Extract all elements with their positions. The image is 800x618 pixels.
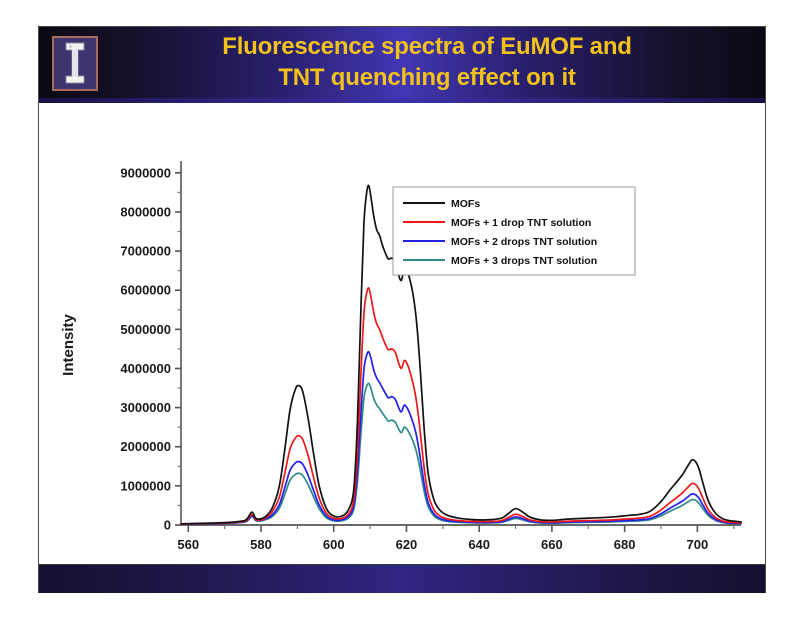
y-axis-title: Intensity: [60, 314, 77, 376]
spectrum-line: [181, 383, 741, 524]
y-axis-tick-label: 8000000: [120, 204, 171, 219]
slide-title-bar: Fluorescence spectra of EuMOF and TNT qu…: [39, 27, 765, 98]
x-axis-tick-label: 640: [468, 537, 490, 552]
legend-label: MOFs + 1 drop TNT solution: [451, 217, 591, 229]
x-axis-tick-label: 660: [541, 537, 563, 552]
spectrum-line: [181, 352, 741, 525]
page-title-line-1: Fluorescence spectra of EuMOF and: [127, 31, 727, 62]
y-axis-tick-label: 0: [164, 518, 171, 533]
y-axis-tick-label: 1000000: [120, 478, 171, 493]
slide-footer-bar: [39, 564, 765, 593]
x-axis-tick-label: 580: [250, 537, 272, 552]
y-axis-tick-label: 7000000: [120, 244, 171, 259]
page-title: Fluorescence spectra of EuMOF and TNT qu…: [127, 31, 727, 93]
y-axis-tick-label: 4000000: [120, 361, 171, 376]
legend-label: MOFs + 2 drops TNT solution: [451, 236, 597, 248]
y-axis-tick-label: 6000000: [120, 283, 171, 298]
page-title-line-2: TNT quenching effect on it: [127, 62, 727, 93]
x-axis-tick-label: 600: [323, 537, 345, 552]
x-axis-tick-label: 700: [687, 537, 709, 552]
y-axis-tick-label: 2000000: [120, 439, 171, 454]
legend-label: MOFs + 3 drops TNT solution: [451, 255, 597, 267]
legend-label: MOFs: [451, 198, 480, 210]
university-of-illinois-block-i-logo: [52, 36, 98, 91]
spectrum-line: [181, 288, 741, 524]
presentation-slide: Fluorescence spectra of EuMOF and TNT qu…: [38, 26, 766, 593]
y-axis-tick-label: 3000000: [120, 400, 171, 415]
fluorescence-spectra-chart: 0100000020000003000000400000050000006000…: [39, 103, 767, 555]
x-axis-tick-label: 560: [177, 537, 199, 552]
x-axis-tick-label: 620: [396, 537, 418, 552]
chart-svg: 0100000020000003000000400000050000006000…: [39, 103, 767, 555]
y-axis-tick-label: 5000000: [120, 322, 171, 337]
y-axis-tick-label: 9000000: [120, 165, 171, 180]
x-axis-tick-label: 680: [614, 537, 636, 552]
